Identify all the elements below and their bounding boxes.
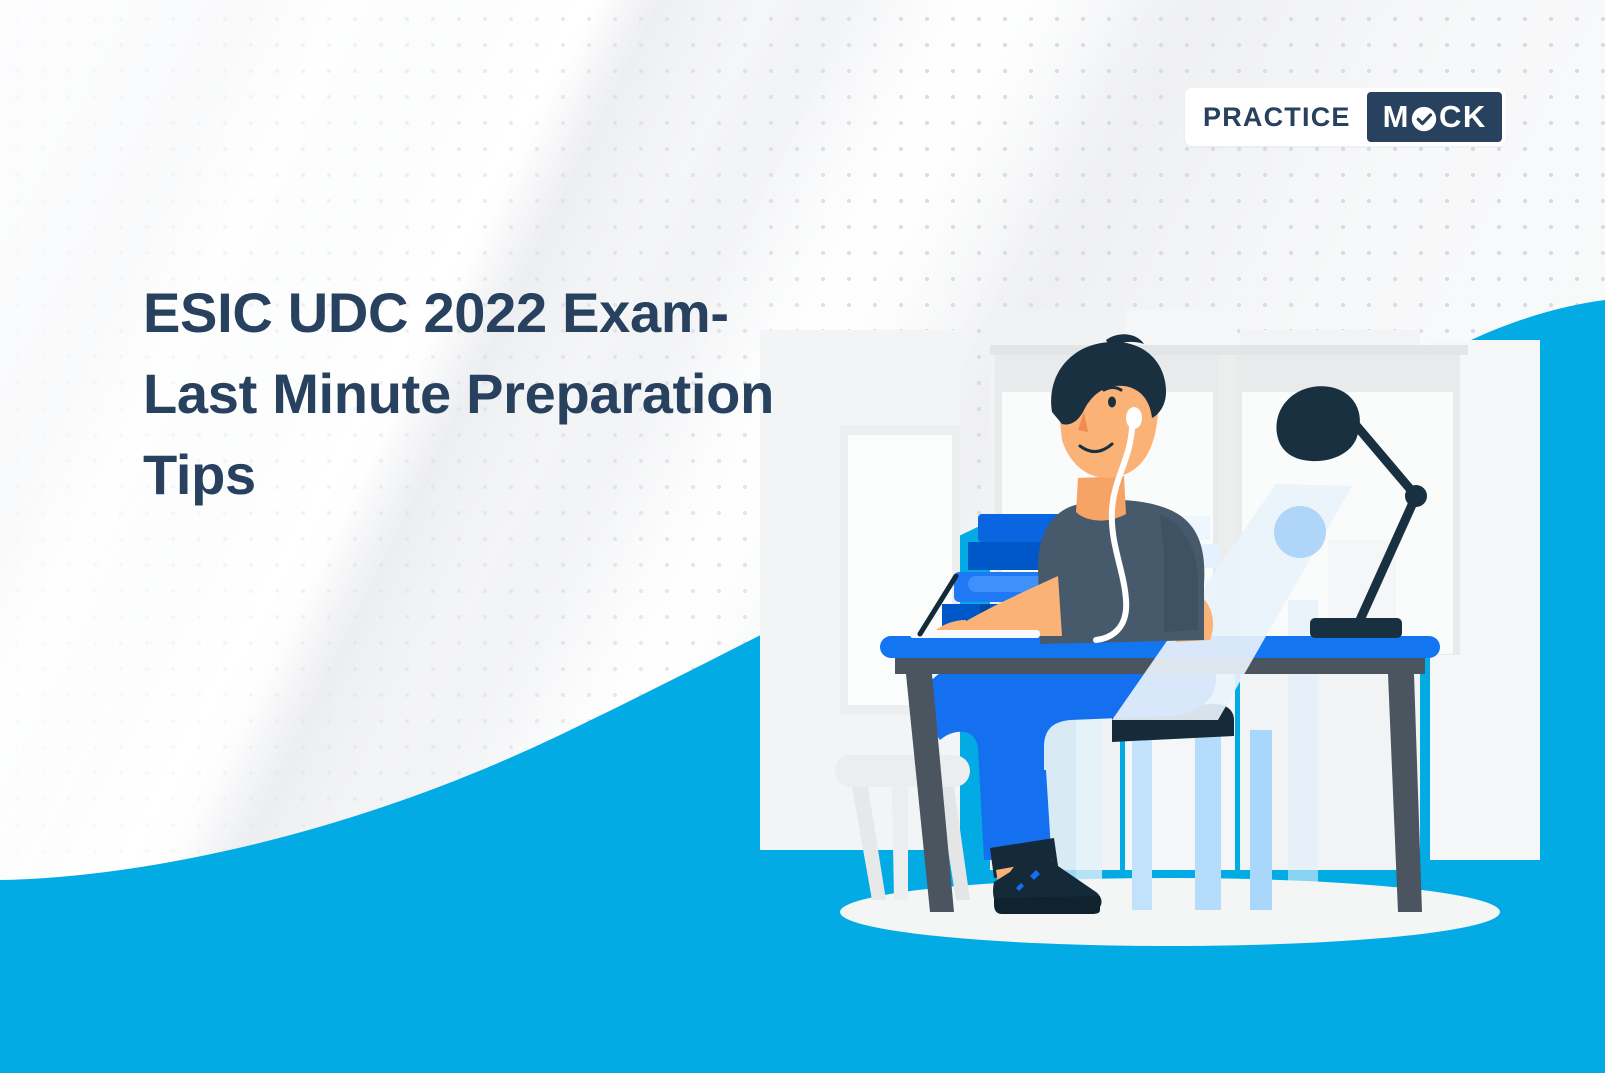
title-line-3: Tips (143, 434, 943, 515)
practicemock-logo[interactable]: PRACTICE M C K (1185, 88, 1506, 146)
earphone-icon (1126, 407, 1142, 429)
logo-practice-text: PRACTICE (1199, 88, 1367, 146)
page-title: ESIC UDC 2022 Exam- Last Minute Preparat… (143, 272, 943, 516)
title-line-2: Last Minute Preparation (143, 353, 943, 434)
logo-mock-badge: M C K (1367, 92, 1502, 142)
logo-letter-k: K (1463, 99, 1486, 135)
promo-banner: ESIC UDC 2022 Exam- Last Minute Preparat… (0, 0, 1605, 1073)
title-line-1: ESIC UDC 2022 Exam- (143, 272, 943, 353)
logo-letter-c: C (1439, 99, 1462, 135)
check-circle-icon (1411, 104, 1437, 130)
logo-letter-m: M (1383, 99, 1409, 135)
